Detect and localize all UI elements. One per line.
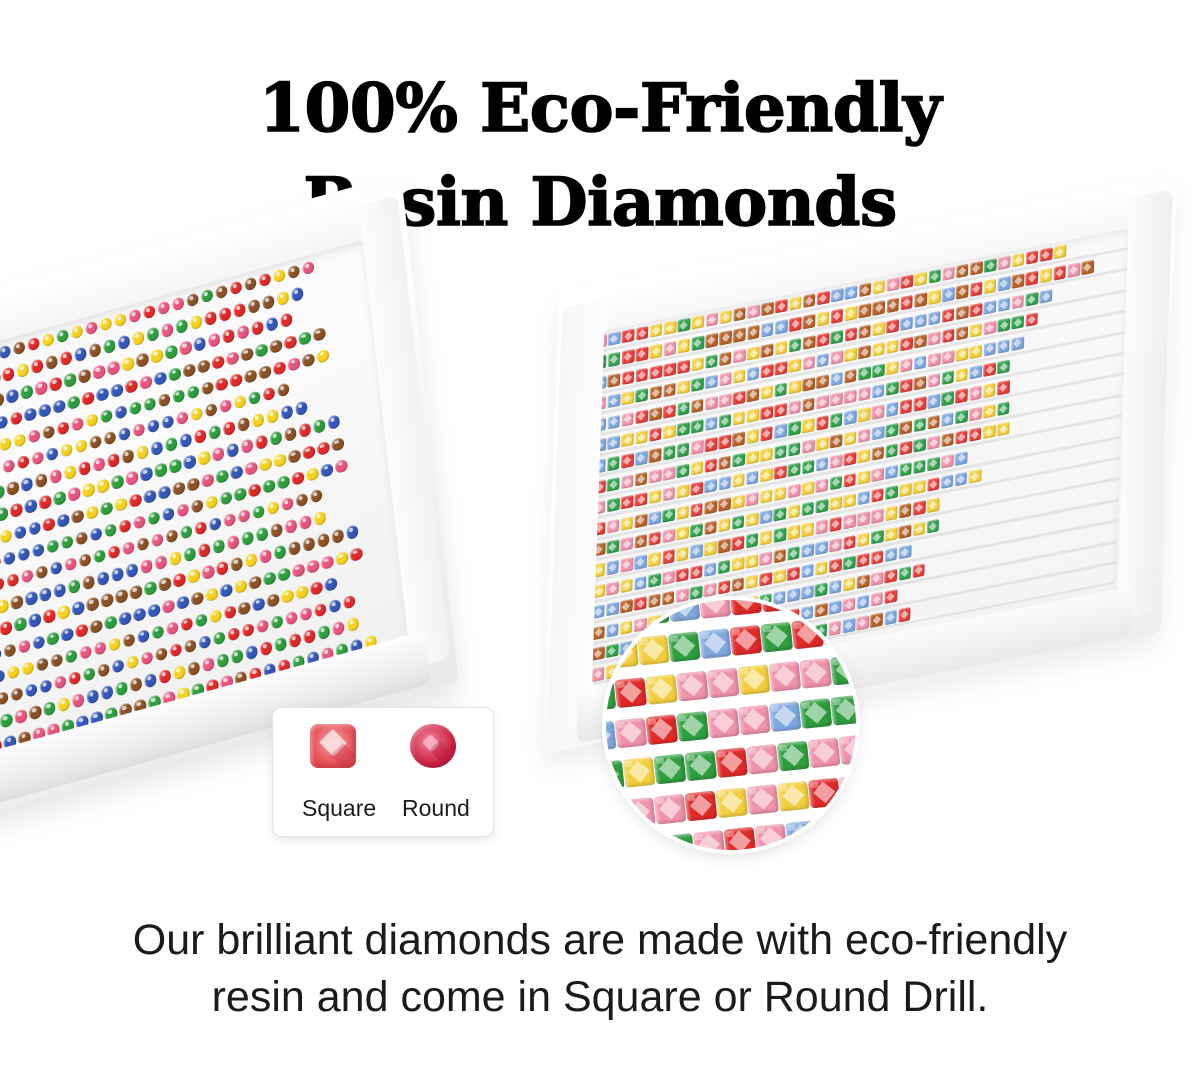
- round-drill-bead: [218, 306, 231, 322]
- square-drill-bead: [773, 548, 786, 563]
- round-drill-bead: [187, 476, 200, 492]
- square-drill-bead: [788, 400, 801, 415]
- square-drill-bead: [802, 377, 815, 392]
- square-drill-bead: [649, 365, 662, 380]
- square-drill-bead: [1012, 274, 1025, 289]
- square-drill-bead: [760, 447, 773, 462]
- round-drill-bead: [212, 538, 225, 554]
- round-drill-bead: [240, 346, 253, 362]
- square-drill-bead: [691, 440, 704, 455]
- square-drill-bead: [663, 424, 676, 439]
- round-drill-bead: [43, 608, 56, 624]
- round-drill-bead: [122, 632, 135, 648]
- square-drill-bead: [900, 316, 913, 331]
- round-drill-bead: [258, 272, 271, 288]
- square-drill-bead: [719, 351, 732, 366]
- square-drill-bead: [732, 432, 745, 447]
- round-drill-bead: [56, 420, 69, 436]
- square-drill-bead: [1039, 289, 1052, 304]
- square-drill-bead: [899, 503, 912, 518]
- square-drill-bead: [1040, 247, 1053, 262]
- round-drill-bead: [238, 600, 251, 616]
- square-drill-bead: [871, 467, 884, 482]
- square-drill-bead: [803, 293, 816, 308]
- square-drill-bead: [815, 540, 828, 555]
- square-drill-bead: [621, 453, 634, 468]
- round-drill-bead: [17, 638, 30, 654]
- round-drill-bead: [13, 524, 26, 540]
- square-drill-bead: [884, 568, 897, 583]
- square-drill-bead: [635, 492, 648, 507]
- round-drill-bead: [61, 626, 74, 642]
- round-drill-bead: [46, 630, 59, 646]
- square-drill-bead: [634, 534, 647, 549]
- square-drill-bead: [831, 288, 844, 303]
- square-drill-bead: [816, 332, 829, 347]
- round-drill-bead: [222, 420, 235, 436]
- round-drill-bead: [6, 480, 19, 496]
- round-drill-bead: [27, 428, 40, 444]
- round-drill-bead: [184, 638, 197, 654]
- square-drill-bead: [788, 442, 801, 457]
- square-drill-bead: [803, 335, 816, 350]
- square-drill-bead: [649, 490, 662, 505]
- round-drill-bead: [79, 644, 92, 660]
- square-drill-bead: [885, 527, 898, 542]
- legend-label-square: Square: [302, 795, 364, 822]
- magnified-square-gem: [746, 744, 779, 775]
- square-drill-bead: [928, 352, 941, 367]
- square-drill-bead: [747, 304, 760, 319]
- round-drill-bead: [28, 520, 41, 536]
- square-drill-bead: [760, 510, 773, 525]
- square-drill-bead: [801, 522, 814, 537]
- square-drill-bead: [900, 378, 913, 393]
- round-gem-icon: [410, 724, 456, 768]
- round-drill-bead: [136, 536, 149, 552]
- square-drill-bead: [608, 373, 621, 388]
- round-drill-bead: [110, 382, 123, 398]
- magnified-square-gem: [729, 600, 762, 616]
- magnified-square-gem: [816, 817, 849, 848]
- round-drill-bead: [277, 382, 290, 398]
- square-drill-bead: [775, 299, 788, 314]
- square-drill-bead: [885, 423, 898, 438]
- square-drill-bead: [607, 414, 620, 429]
- square-drill-bead: [1025, 312, 1038, 327]
- square-drill-bead: [745, 575, 758, 590]
- round-drill-bead: [46, 538, 59, 554]
- round-drill-bead: [143, 488, 156, 504]
- round-drill-bead: [205, 586, 218, 602]
- square-drill-bead: [802, 460, 815, 475]
- square-drill-bead: [914, 334, 927, 349]
- square-drill-bead: [802, 439, 815, 454]
- square-drill-bead: [789, 317, 802, 332]
- round-drill-bead: [244, 276, 257, 292]
- round-drill-bead: [309, 488, 322, 504]
- square-drill-bead: [705, 396, 718, 411]
- square-drill-bead: [649, 448, 662, 463]
- round-drill-bead: [49, 376, 62, 392]
- square-drill-bead: [621, 474, 634, 489]
- round-drill-bead: [222, 328, 235, 344]
- square-drill-bead: [858, 428, 871, 443]
- round-drill-bead: [259, 640, 272, 656]
- round-drill-bead: [201, 564, 214, 580]
- round-drill-bead: [74, 346, 87, 362]
- round-drill-bead: [262, 386, 275, 402]
- square-drill-bead: [731, 577, 744, 592]
- round-drill-bead: [233, 394, 246, 410]
- square-drill-bead: [802, 356, 815, 371]
- square-drill-bead: [998, 255, 1011, 270]
- square-drill-bead: [816, 374, 829, 389]
- round-drill-bead: [121, 356, 134, 372]
- magnified-square-gem: [769, 701, 802, 732]
- square-drill-bead: [816, 395, 829, 410]
- square-drill-bead: [691, 398, 704, 413]
- round-drill-bead: [306, 558, 319, 574]
- square-drill-bead: [789, 338, 802, 353]
- round-drill-bead: [284, 518, 297, 534]
- square-drill-bead: [927, 456, 940, 471]
- round-drill-bead: [317, 624, 330, 640]
- square-drill-bead: [732, 411, 745, 426]
- square-drill-bead: [677, 401, 690, 416]
- round-drill-bead: [227, 534, 240, 550]
- magnified-square-gem: [777, 741, 810, 772]
- square-drill-bead: [663, 445, 676, 460]
- round-drill-bead: [183, 546, 196, 562]
- square-drill-bead: [1011, 315, 1024, 330]
- round-drill-bead: [57, 696, 70, 712]
- square-drill-bead: [884, 589, 897, 604]
- magnified-square-gem: [606, 840, 633, 850]
- round-drill-bead: [193, 336, 206, 352]
- square-drill-bead: [607, 519, 620, 534]
- round-drill-bead: [13, 340, 26, 356]
- square-drill-bead: [900, 274, 913, 289]
- round-drill-bead: [43, 701, 56, 717]
- square-drill-bead: [606, 539, 619, 554]
- round-drill-bead: [92, 364, 105, 380]
- square-drill-bead: [747, 367, 760, 382]
- square-drill-bead: [829, 517, 842, 532]
- round-drill-bead: [0, 576, 5, 592]
- square-drill-bead: [789, 296, 802, 311]
- round-drill-bead: [252, 596, 265, 612]
- square-drill-bead: [843, 493, 856, 508]
- square-drill-bead: [787, 546, 800, 561]
- square-drill-bead: [774, 507, 787, 522]
- magnified-square-gem: [614, 677, 647, 708]
- round-drill-bead: [281, 496, 294, 512]
- round-drill-bead: [245, 644, 258, 660]
- round-drill-bead: [71, 600, 84, 616]
- round-drill-bead: [132, 330, 145, 346]
- caption-line-1: Our brilliant diamonds are made with eco…: [60, 912, 1140, 969]
- round-drill-bead: [176, 594, 189, 610]
- square-drill-bead: [900, 337, 913, 352]
- magnified-square-gem: [645, 674, 678, 705]
- square-drill-bead: [760, 468, 773, 483]
- round-drill-bead: [274, 544, 287, 560]
- round-drill-bead: [332, 620, 345, 636]
- square-drill-bead: [773, 528, 786, 543]
- round-drill-bead: [198, 634, 211, 650]
- square-drill-bead: [969, 344, 982, 359]
- magnified-square-gem: [637, 635, 670, 666]
- square-drill-bead: [912, 563, 925, 578]
- square-drill-bead: [927, 373, 940, 388]
- round-drill-bead: [169, 642, 182, 658]
- square-drill-bead: [886, 360, 899, 375]
- magnified-square-gem: [606, 600, 639, 629]
- square-drill-bead: [857, 574, 870, 589]
- square-drill-bead: [774, 486, 787, 501]
- square-drill-bead: [857, 511, 870, 526]
- square-drill-bead: [857, 491, 870, 506]
- round-drill-bead: [16, 362, 29, 378]
- square-drill-bead: [746, 491, 759, 506]
- square-drill-bead: [843, 577, 856, 592]
- square-drill-bead: [927, 415, 940, 430]
- round-drill-bead: [132, 514, 145, 530]
- round-drill-bead: [17, 454, 30, 470]
- round-drill-bead: [3, 550, 16, 566]
- square-drill-bead: [746, 450, 759, 465]
- round-drill-bead: [107, 452, 120, 468]
- round-drill-bead: [204, 402, 217, 418]
- round-drill-bead: [114, 496, 127, 512]
- magnifier-content: [606, 600, 856, 850]
- round-drill-bead: [262, 478, 275, 494]
- round-drill-bead: [172, 480, 185, 496]
- round-drill-bead: [35, 472, 48, 488]
- round-drill-bead: [302, 444, 315, 460]
- magnified-square-gem: [715, 787, 748, 818]
- square-drill-bead: [704, 458, 717, 473]
- square-drill-bead: [592, 646, 605, 661]
- round-drill-bead: [64, 464, 77, 480]
- square-drill-bead: [899, 399, 912, 414]
- round-drill-bead: [285, 610, 298, 626]
- square-drill-bead: [718, 559, 731, 574]
- square-drill-bead: [691, 315, 704, 330]
- square-drill-bead: [636, 347, 649, 362]
- round-drill-bead: [20, 476, 33, 492]
- square-drill-bead: [733, 390, 746, 405]
- square-drill-bead: [705, 354, 718, 369]
- square-drill-bead: [871, 488, 884, 503]
- square-drill-bead: [787, 567, 800, 582]
- round-drill-bead: [57, 512, 70, 528]
- square-drill-bead: [816, 457, 829, 472]
- round-drill-bead: [39, 678, 52, 694]
- square-drill-bead: [607, 435, 620, 450]
- round-drill-bead: [74, 438, 87, 454]
- square-drill-bead: [815, 499, 828, 514]
- round-drill-bead: [248, 574, 261, 590]
- round-drill-bead: [241, 622, 254, 638]
- round-drill-bead: [157, 392, 170, 408]
- round-drill-bead: [70, 324, 83, 340]
- round-drill-bead: [111, 566, 124, 582]
- round-drill-bead: [89, 526, 102, 542]
- square-drill-bead: [760, 385, 773, 400]
- round-drill-bead: [172, 388, 185, 404]
- square-drill-bead: [844, 389, 857, 404]
- square-drill-bead: [885, 506, 898, 521]
- round-drill-bead: [133, 606, 146, 622]
- square-drill-bead: [1012, 253, 1025, 268]
- round-drill-bead: [226, 442, 239, 458]
- square-drill-bead: [927, 394, 940, 409]
- round-drill-bead: [38, 402, 51, 418]
- square-drill-bead: [844, 368, 857, 383]
- square-drill-bead: [634, 513, 647, 528]
- square-drill-bead: [759, 572, 772, 587]
- square-drill-bead: [859, 283, 872, 298]
- magnified-square-gem: [668, 631, 701, 662]
- round-drill-bead: [35, 564, 48, 580]
- round-drill-bead: [103, 430, 116, 446]
- square-drill-bead: [983, 362, 996, 377]
- round-drill-bead: [190, 406, 203, 422]
- square-drill-bead: [732, 494, 745, 509]
- square-drill-bead: [955, 451, 968, 466]
- round-drill-bead: [82, 482, 95, 498]
- round-drill-bead: [161, 506, 174, 522]
- square-drill-bead: [913, 397, 926, 412]
- square-drill-bead: [970, 261, 983, 276]
- round-drill-bead: [0, 691, 9, 707]
- round-drill-bead: [10, 594, 23, 610]
- square-drill-bead: [592, 604, 605, 619]
- round-drill-bead: [0, 554, 1, 570]
- round-drill-bead: [291, 470, 304, 486]
- round-drill-bead: [251, 412, 264, 428]
- round-drill-bead: [164, 344, 177, 360]
- square-drill-bead: [761, 301, 774, 316]
- square-drill-bead: [955, 347, 968, 362]
- round-drill-bead: [313, 510, 326, 526]
- square-drill-bead: [663, 362, 676, 377]
- round-drill-bead: [233, 302, 246, 318]
- legend-square-cell: [302, 724, 364, 768]
- round-drill-bead: [143, 396, 156, 412]
- round-drill-bead: [342, 594, 355, 610]
- square-drill-bead: [997, 401, 1010, 416]
- square-drill-bead: [872, 280, 885, 295]
- square-drill-bead: [955, 388, 968, 403]
- square-drill-bead: [690, 461, 703, 476]
- round-drill-bead: [97, 662, 110, 678]
- round-drill-bead: [53, 490, 66, 506]
- round-drill-bead: [262, 294, 275, 310]
- round-drill-bead: [130, 676, 143, 692]
- round-drill-bead: [248, 482, 261, 498]
- round-drill-bead: [314, 602, 327, 618]
- magnified-square-gem: [754, 823, 787, 850]
- square-drill-bead: [733, 328, 746, 343]
- square-drill-bead: [870, 592, 883, 607]
- round-drill-bead: [191, 590, 204, 606]
- square-drill-bead: [984, 258, 997, 273]
- round-drill-bead: [287, 356, 300, 372]
- infographic-canvas: 100% Eco-Friendly Resin Diamonds: [0, 0, 1200, 1081]
- magnified-square-gem: [606, 638, 639, 669]
- square-drill-bead: [607, 498, 620, 513]
- square-drill-bead: [1054, 245, 1067, 260]
- magnified-square-gem: [830, 695, 856, 726]
- round-drill-bead: [251, 320, 264, 336]
- round-drill-bead: [14, 709, 27, 725]
- square-drill-bead: [691, 336, 704, 351]
- square-drill-bead: [704, 437, 717, 452]
- square-drill-bead: [648, 552, 661, 567]
- round-drill-bead: [272, 268, 285, 284]
- square-drill-bead: [843, 473, 856, 488]
- round-drill-bead: [175, 318, 188, 334]
- square-drill-bead: [844, 306, 857, 321]
- square-drill-bead: [787, 525, 800, 540]
- round-drill-bead: [215, 284, 228, 300]
- round-drill-bead: [57, 604, 70, 620]
- square-drill-bead: [732, 473, 745, 488]
- round-drill-bead: [234, 578, 247, 594]
- round-drill-bead: [303, 628, 316, 644]
- square-drill-bead: [955, 472, 968, 487]
- square-drill-bead: [775, 361, 788, 376]
- square-drill-bead: [817, 291, 830, 306]
- round-drill-bead: [144, 672, 157, 688]
- round-drill-bead: [3, 642, 16, 658]
- square-drill-bead: [704, 562, 717, 577]
- round-drill-bead: [162, 598, 175, 614]
- magnified-square-gem: [606, 800, 625, 831]
- round-drill-bead: [101, 684, 114, 700]
- square-drill-bead: [956, 264, 969, 279]
- round-drill-bead: [161, 414, 174, 430]
- square-drill-bead: [871, 530, 884, 545]
- magnified-square-drills: [606, 600, 856, 850]
- round-drill-bead: [9, 410, 22, 426]
- round-drill-bead: [274, 636, 287, 652]
- square-drill-bead: [690, 586, 703, 601]
- square-drill-bead: [719, 372, 732, 387]
- square-drill-bead: [649, 406, 662, 421]
- round-drill-bead: [248, 390, 261, 406]
- round-drill-bead: [146, 326, 159, 342]
- magnified-square-gem: [668, 600, 701, 622]
- square-drill-bead: [829, 579, 842, 594]
- square-drill-bead: [913, 438, 926, 453]
- round-drill-bead: [41, 332, 54, 348]
- square-drill-bead: [829, 558, 842, 573]
- round-drill-bead: [256, 618, 269, 634]
- round-drill-bead: [97, 570, 110, 586]
- square-drill-bead: [801, 501, 814, 516]
- square-drill-bead: [829, 475, 842, 490]
- square-drill-bead: [621, 370, 634, 385]
- magnified-square-gem: [746, 784, 779, 815]
- square-drill-bead: [787, 504, 800, 519]
- round-drill-bead: [49, 468, 62, 484]
- round-drill-bead: [154, 462, 167, 478]
- round-drill-bead: [144, 580, 157, 596]
